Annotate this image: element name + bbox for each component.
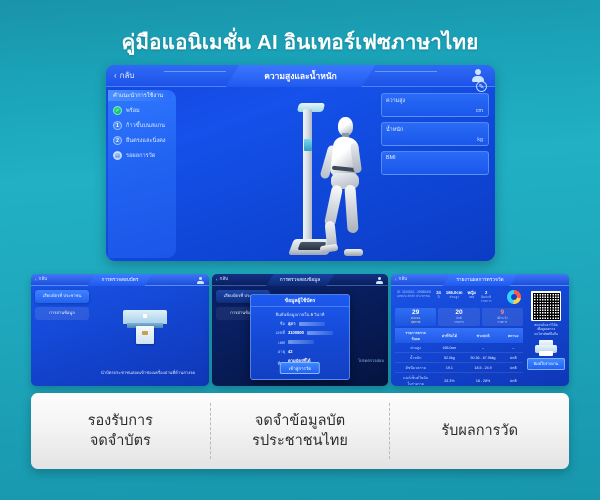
dialog-subtitle: ยืนยันข้อมูลภายใน 5 วินาที [251, 311, 349, 318]
user-icon[interactable] [197, 277, 204, 284]
back-button[interactable]: ‹ กลับ [216, 276, 228, 283]
measurement-fields: ✎ ความสูง cm น้ำหนัก kg BMI [381, 93, 489, 180]
weight-field[interactable]: น้ำหนัก kg [381, 122, 489, 146]
panel-card-reader: ‹ กลับ การตรวจสอบบัตร เสียบบัตรที่ ประชา… [31, 274, 209, 386]
panel-measure-results: ‹ กลับ รายงานผลการตรวจวัด ID: 3100801...… [391, 274, 569, 386]
sidebar-item-label: รอผลการวัด [126, 152, 155, 160]
tab-height-weight[interactable]: ความสูงและน้ำหนัก [226, 65, 376, 87]
sidebar-item-label: ยืนตรงและนิ่งคง [126, 137, 166, 145]
pencil-circle-icon[interactable]: ✎ [476, 81, 487, 92]
feature-captions: รองรับการ จดจำบัตร จดจำข้อมูลบัต รประชาช… [31, 393, 569, 469]
masked-value [307, 331, 333, 335]
table-row: ส่วนสูง 165.0cm -- -- [395, 343, 523, 353]
chevron-left-icon: ‹ [216, 277, 218, 282]
height-field[interactable]: ความสูง cm [381, 93, 489, 117]
sidebar-item-label: ก้าวขึ้นบนสแกน [126, 122, 165, 130]
panel-id-confirm: ‹ กลับ การตรวจสอบข้อมูล เสียบบัตรที่ ประ… [212, 274, 388, 386]
dialog-row-id: เลขที่ 3100800 [251, 329, 349, 336]
back-button[interactable]: ‹ กลับ [35, 276, 47, 283]
panel-caption: นำบัตรประชาชนสอดเข้าช่องเครื่องอ่านที่ด้… [93, 370, 203, 376]
tab-rule-right [375, 71, 437, 72]
bmi-field-label: BMI [386, 155, 396, 161]
col-measured: ค่าที่วัดได้ [436, 328, 462, 343]
dialog-row-gender: เพศ [251, 339, 349, 346]
back-label: กลับ [120, 69, 135, 82]
abnormal-stat: 2 ผิดปกติ รายการ [481, 290, 492, 303]
results-aside: สแกนคิวอาร์โค้ด เพื่อดูผลตรวจ บนโทรศัพท์… [527, 289, 565, 370]
stat-watch-count: 9 เฝ้าระวัง รายการ [482, 308, 523, 326]
back-button[interactable]: ‹ กลับ [114, 69, 135, 82]
masked-value [299, 322, 325, 326]
gender-stat: หญิง เพศ [467, 290, 475, 299]
weight-field-unit: kg [477, 137, 483, 143]
sidebar-item-label: พร้อม [126, 107, 140, 115]
confirm-button[interactable]: เข้าสู่การวัด [280, 362, 320, 374]
check-icon: ✓ [113, 106, 122, 115]
chevron-left-icon: ‹ [395, 277, 397, 282]
age-stat: 24 ปี [436, 290, 441, 299]
tab-data-verify[interactable]: การตรวจสอบข้อมูล [266, 274, 335, 286]
sidebar-item-step2[interactable]: 2 ยืนตรงและนิ่งคง [113, 136, 166, 145]
col-normal-range: ช่วงปกติ [463, 328, 504, 343]
bmi-field[interactable]: BMI [381, 151, 489, 175]
table-row: เปอร์เซ็นต์ไขมัน ในร่างกาย 25.3% 18 - 28… [395, 373, 523, 386]
hero-panel: ‹ กลับ ความสูงและน้ำหนัก คำแนะนำการใช้งา… [106, 65, 495, 261]
dialog-row-age: อายุ 42 [251, 348, 349, 355]
back-label: กลับ [220, 276, 229, 283]
sidebar-item-ready[interactable]: ✓ พร้อม [113, 106, 140, 115]
sidebar-item-read-data[interactable]: การอ่านข้อมูล [35, 307, 89, 320]
results-table: รายการตรวจ วัดผล ค่าที่วัดได้ ช่วงปกติ ส… [395, 328, 523, 386]
col-item: รายการตรวจ วัดผล [395, 328, 436, 343]
panel-side-caption: โปรดตรวจสอบ [358, 357, 384, 364]
height-field-label: ความสูง [386, 97, 405, 105]
dialog-title: ข้อมูลผู้ใช้บัตร [251, 295, 349, 307]
sidebar-item-insert-card[interactable]: เสียบบัตรที่ ประชาชน [35, 290, 89, 303]
back-button[interactable]: ‹ กลับ [395, 276, 407, 283]
document-icon: ▤ [113, 151, 122, 160]
dialog-row-name: ชื่อ สุภา [251, 320, 349, 327]
results-body: ID: 3100801...39988400 เลขประจำตัว ประชา… [395, 289, 523, 386]
sidebar-item-step1[interactable]: 1 ก้าวขึ้นบนสแกน [113, 121, 165, 130]
print-report-button[interactable]: พิมพ์ใบรายงาน [527, 358, 565, 370]
caption-card-support: รองรับการ จดจำบัตร [31, 411, 210, 452]
back-label: กลับ [399, 276, 408, 283]
table-header-row: รายการตรวจ วัดผล ค่าที่วัดได้ ช่วงปกติ ส… [395, 328, 523, 343]
back-label: กลับ [39, 276, 48, 283]
qr-code-icon[interactable] [531, 291, 561, 321]
col-status: สถานะ [504, 328, 523, 343]
patient-id: ID: 3100801...39988400 เลขประจำตัว ประชา… [397, 290, 431, 298]
tab-card-verify[interactable]: การตรวจสอบบัตร [88, 274, 153, 286]
stat-normal-count: 20 ปกติ รายการ [438, 308, 479, 326]
qr-caption: สแกนคิวอาร์โค้ด เพื่อดูผลตรวจ บนโทรศัพท์… [527, 323, 565, 336]
caption-thai-id: จดจำข้อมูลบัต รประชาชนไทย [211, 411, 390, 452]
step-2-icon: 2 [113, 136, 122, 145]
chevron-left-icon: ‹ [35, 277, 37, 282]
hero-sidebar: คำแนะนำการใช้งาน ✓ พร้อม 1 ก้าวขึ้นบนสแก… [108, 90, 176, 258]
height-field-unit: cm [476, 108, 483, 114]
tab-rule-left [164, 71, 226, 72]
id-confirm-dialog: ข้อมูลผู้ใช้บัตร ยืนยันข้อมูลภายใน 5 วิน… [250, 294, 350, 380]
tab-report[interactable]: รายงานผลการตรวจวัด [442, 274, 517, 286]
caption-get-results: รับผลการวัด [390, 421, 569, 441]
table-row: น้ำหนัก 52.0kg 50.36 - 67.96kg ปกติ [395, 353, 523, 363]
masked-value [288, 340, 314, 344]
ai-human-figure [314, 117, 370, 259]
printer-icon [535, 340, 557, 356]
identity-row: ID: 3100801...39988400 เลขประจำตัว ประชา… [395, 289, 523, 306]
card-reader-icon [123, 310, 167, 344]
donut-chart-icon [507, 290, 521, 304]
step-1-icon: 1 [113, 121, 122, 130]
user-icon[interactable] [376, 277, 383, 284]
countdown-value: 5 [311, 312, 313, 317]
page-title: คู่มือแอนิเมชั่น AI อินเทอร์เฟซภาษาไทย [0, 26, 600, 59]
summary-stats: 29 คะแนน สุขภาพ 20 ปกติ รายการ 9 เฝ้าระว… [395, 308, 523, 326]
sidebar-item-await-result[interactable]: ▤ รอผลการวัด [113, 151, 155, 160]
panel-sidebar: เสียบบัตรที่ ประชาชน การอ่านข้อมูล [35, 290, 89, 324]
chevron-left-icon: ‹ [114, 72, 117, 80]
weight-field-label: น้ำหนัก [386, 126, 403, 134]
stat-health-score: 29 คะแนน สุขภาพ [395, 308, 436, 326]
height-stat: 165.0cm ส่วนสูง [446, 290, 463, 299]
table-row: ดัชนีมวลกาย 19.1 18.5 - 24.9 ปกติ [395, 363, 523, 373]
sidebar-title: คำแนะนำการใช้งาน [108, 90, 172, 101]
